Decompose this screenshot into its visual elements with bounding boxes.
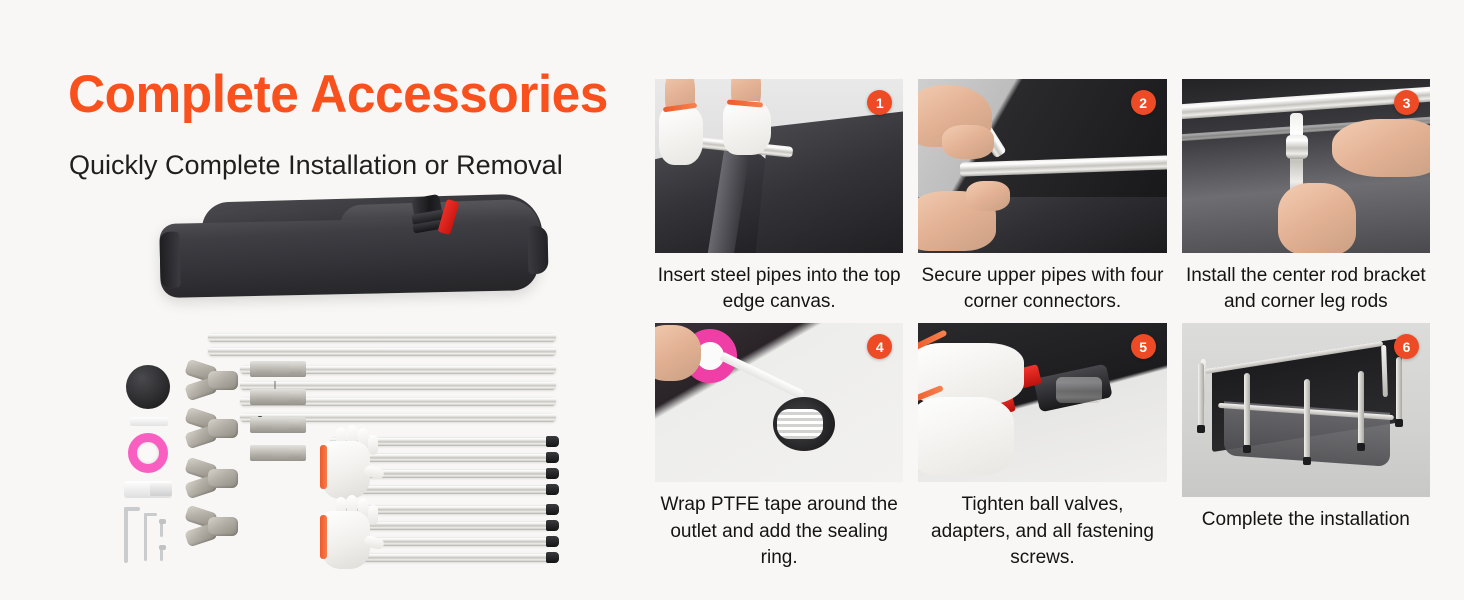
metal-bracket-plate xyxy=(250,389,306,405)
step-caption-3: Install the center rod bracket and corne… xyxy=(1182,253,1430,315)
metal-bracket-plate xyxy=(250,445,306,461)
page-subtitle: Quickly Complete Installation or Removal xyxy=(69,150,563,181)
page-title: Complete Accessories xyxy=(68,64,608,125)
step-caption-1: Insert steel pipes into the top edge can… xyxy=(655,253,903,315)
white-seal-strip xyxy=(130,417,168,426)
step-badge-5: 5 xyxy=(1131,334,1156,359)
step-badge-6: 6 xyxy=(1394,334,1419,359)
step-photo-secure-corner-connectors: 2 xyxy=(918,79,1166,253)
step-photo-insert-steel-pipes: 1 xyxy=(655,79,903,253)
step-badge-3: 3 xyxy=(1394,90,1419,115)
hex-wrench-medium xyxy=(144,513,147,561)
ptfe-tape-roll xyxy=(128,433,168,473)
t-corner-connector xyxy=(186,411,240,447)
metal-bracket-plate xyxy=(250,417,306,433)
step-photo-completed-pool-frame: 6 xyxy=(1182,323,1430,497)
repair-patch-disc xyxy=(126,365,170,409)
step-photo-wrap-ptfe-tape: 4 xyxy=(655,323,903,482)
liner-roll-body xyxy=(159,216,538,298)
accessory-kit-image xyxy=(118,355,578,570)
liner-roll-endcap xyxy=(527,226,548,274)
step-caption-2: Secure upper pipes with four corner conn… xyxy=(918,253,1166,315)
step-badge-2: 2 xyxy=(1131,90,1156,115)
work-glove xyxy=(314,427,388,503)
infographic-page: Complete Accessories Quickly Complete In… xyxy=(0,0,1464,600)
step-photo-install-center-rod: 3 xyxy=(1182,79,1430,253)
left-column: Complete Accessories Quickly Complete In… xyxy=(0,0,645,600)
step-card-1: 1 Insert steel pipes into the top edge c… xyxy=(655,79,903,315)
step-caption-4: Wrap PTFE tape around the outlet and add… xyxy=(655,482,903,571)
step-caption-6: Complete the installation xyxy=(1182,497,1430,533)
step-card-3: 3 Install the center rod bracket and cor… xyxy=(1182,79,1430,315)
long-steel-pipe xyxy=(208,333,556,342)
work-glove xyxy=(314,497,388,573)
hex-wrench-small xyxy=(160,545,163,561)
step-card-4: 4 Wrap PTFE tape around the outlet and a… xyxy=(655,323,903,571)
t-corner-connector xyxy=(186,509,240,545)
hex-wrench-large xyxy=(124,507,128,563)
hex-wrench-small xyxy=(160,519,163,537)
white-pipe-fitting xyxy=(124,481,172,498)
long-steel-pipe xyxy=(208,347,556,356)
product-liner-image xyxy=(150,196,550,306)
step-card-5: 5 Tighten ball valves, adapters, and all… xyxy=(918,323,1166,571)
step-card-6: 6 Complete the installation xyxy=(1182,323,1430,571)
step-card-2: 2 Secure upper pipes with four corner co… xyxy=(918,79,1166,315)
t-corner-connector xyxy=(186,363,240,399)
installation-steps-grid: 1 Insert steel pipes into the top edge c… xyxy=(655,79,1430,579)
metal-bracket-plate xyxy=(250,361,306,377)
step-photo-tighten-ball-valve: 5 xyxy=(918,323,1166,482)
step-caption-5: Tighten ball valves, adapters, and all f… xyxy=(918,482,1166,571)
t-corner-connector xyxy=(186,461,240,497)
